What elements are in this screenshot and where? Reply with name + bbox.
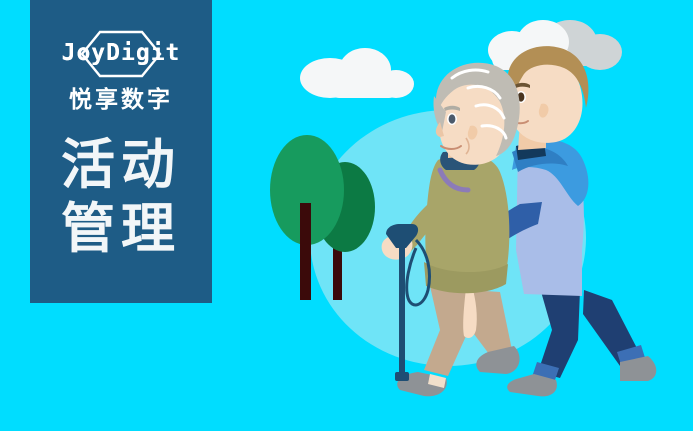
brand-panel: JoyDigit 悦享数字 活动 管理 — [30, 0, 212, 303]
page-title: 活动 管理 — [30, 133, 212, 261]
logo-chinese-name: 悦享数字 — [30, 86, 212, 114]
page-title-line-1: 活动 — [30, 133, 212, 197]
logo-mark: JoyDigit — [46, 30, 196, 78]
page-title-line-2: 管理 — [30, 197, 212, 261]
logo-block: JoyDigit 悦享数字 — [30, 30, 212, 114]
logo-wordmark: JoyDigit — [46, 38, 196, 68]
poster-canvas: JoyDigit 悦享数字 活动 管理 — [0, 0, 693, 431]
cane-shaft — [399, 248, 405, 376]
cane-tip — [395, 372, 409, 381]
